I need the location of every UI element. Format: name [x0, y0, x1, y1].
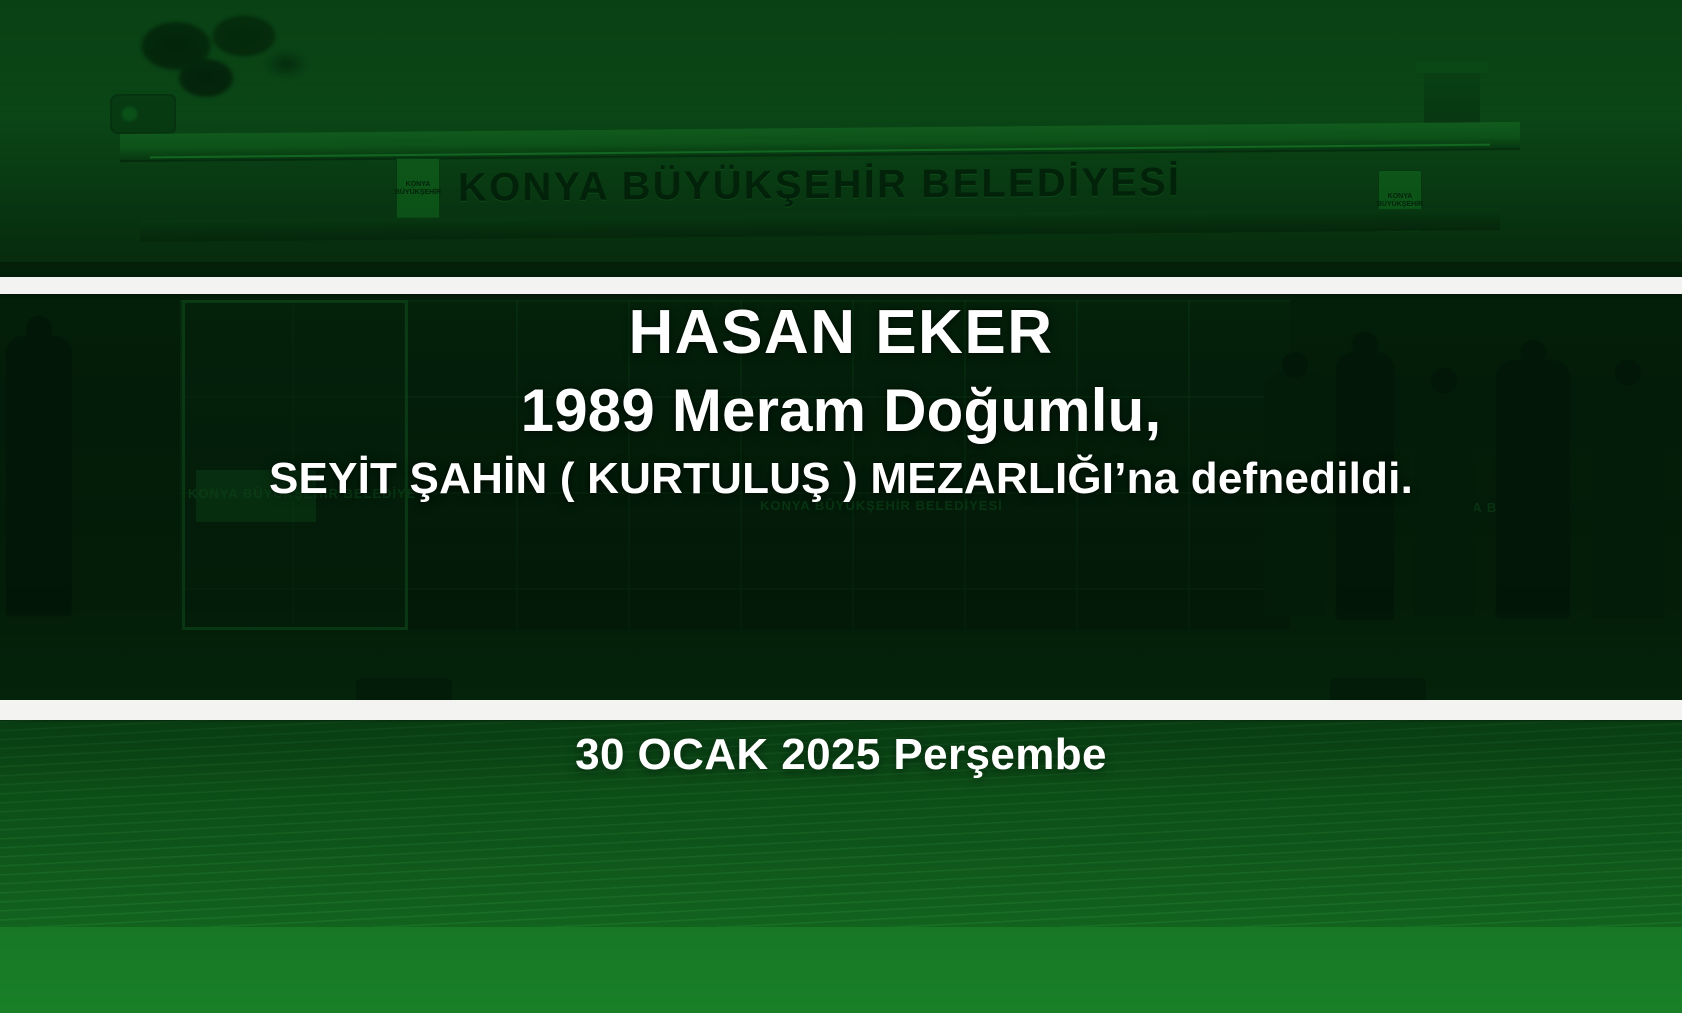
death-announcement-poster: KONYA BÜYÜKŞEHİR BELEDİYESİ KONYA BÜYÜKŞ… [0, 0, 1682, 1013]
deceased-birth-info: 1989 Meram Doğumlu, [0, 379, 1682, 444]
announcement-block: HASAN EKER 1989 Meram Doğumlu, SEYİT ŞAH… [0, 300, 1682, 503]
burial-date: 30 OCAK 2025 Perşembe [0, 730, 1682, 780]
text-overlay: HASAN EKER 1989 Meram Doğumlu, SEYİT ŞAH… [0, 0, 1682, 1013]
burial-cemetery-info: SEYİT ŞAHİN ( KURTULUŞ ) MEZARLIĞI’na de… [0, 454, 1682, 503]
deceased-name: HASAN EKER [0, 300, 1682, 365]
